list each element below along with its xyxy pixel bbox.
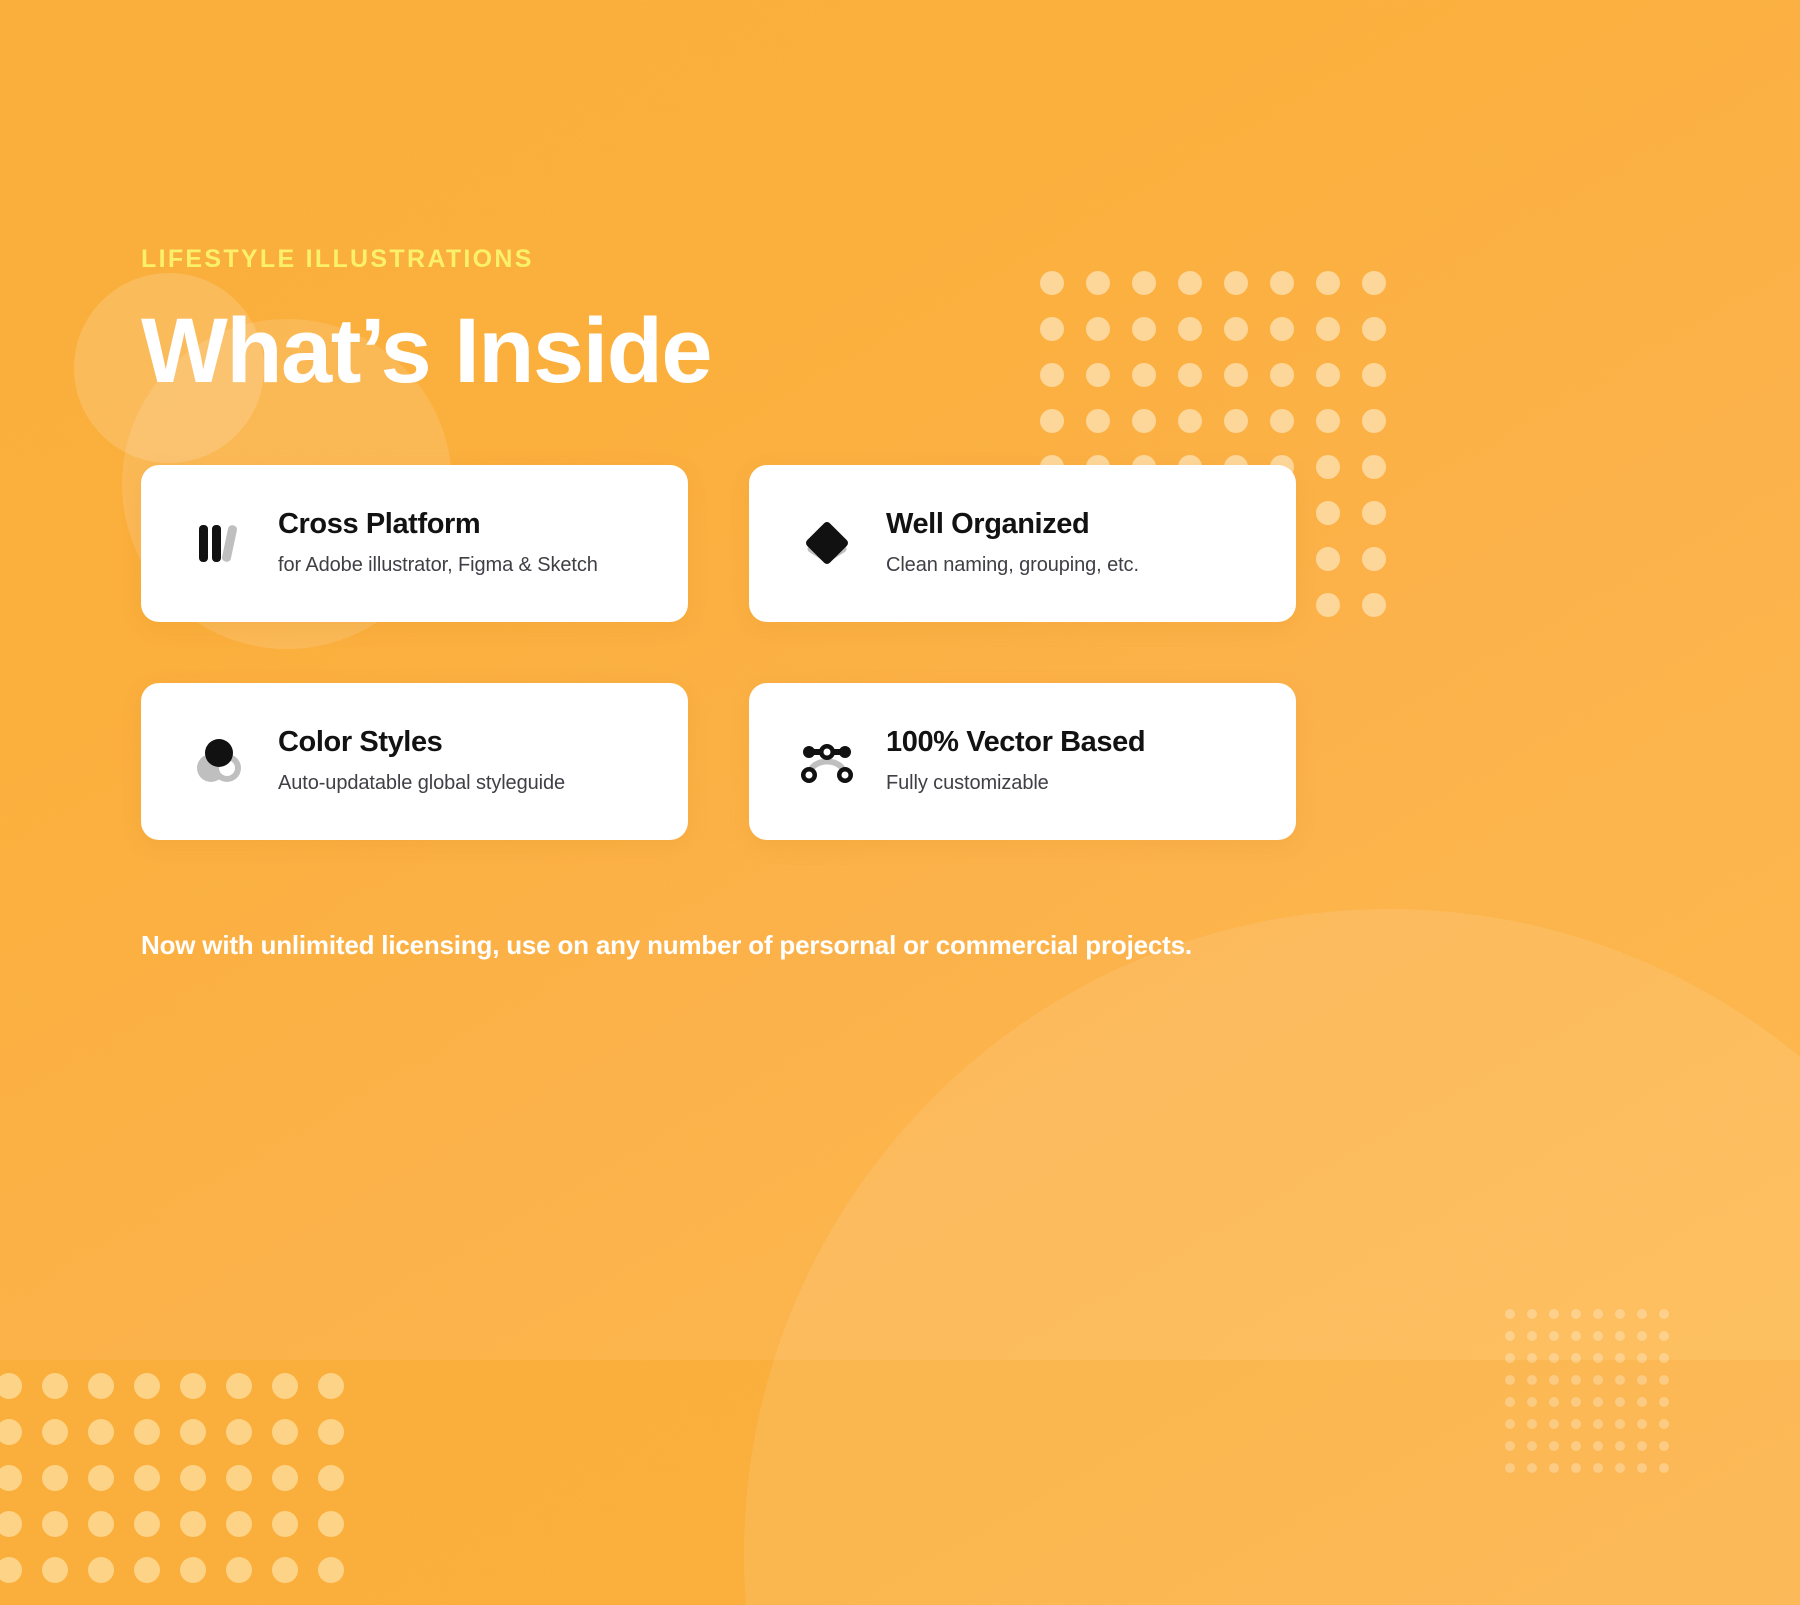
decorative-dot [226,1511,252,1537]
feature-card-vector-based[interactable]: 100% Vector Based Fully customizable [749,683,1296,840]
decorative-dot [1549,1375,1559,1385]
color-circles-icon [188,730,250,792]
decorative-dot [1593,1419,1603,1429]
decorative-dot [134,1419,160,1445]
decorative-dot [42,1419,68,1445]
decorative-dot [272,1419,298,1445]
decorative-dot [1549,1441,1559,1451]
decorative-dot [272,1557,298,1583]
decorative-dot [1593,1463,1603,1473]
decorative-dot [318,1419,344,1445]
decorative-dot [180,1419,206,1445]
decorative-dot [1571,1397,1581,1407]
decorative-dot [1549,1419,1559,1429]
decorative-dot [318,1373,344,1399]
decorative-dot [1593,1309,1603,1319]
decorative-dot [1593,1375,1603,1385]
decorative-dot [1593,1353,1603,1363]
licensing-tagline: Now with unlimited licensing, use on any… [141,930,1800,961]
decorative-dot [134,1511,160,1537]
feature-card-cross-platform[interactable]: Cross Platform for Adobe illustrator, Fi… [141,465,688,622]
decorative-dot [1615,1309,1625,1319]
decorative-dot [1505,1331,1515,1341]
feature-card-text: Cross Platform for Adobe illustrator, Fi… [278,509,598,577]
decorative-dot [1615,1353,1625,1363]
feature-card-color-styles[interactable]: Color Styles Auto-updatable global style… [141,683,688,840]
decorative-dot [272,1511,298,1537]
decorative-dot [1549,1353,1559,1363]
decorative-dot [134,1373,160,1399]
feature-card-title: Color Styles [278,727,565,759]
decorative-dot [42,1373,68,1399]
feature-card-subtitle: for Adobe illustrator, Figma & Sketch [278,553,598,577]
decorative-dot [1549,1397,1559,1407]
decorative-dot [1571,1309,1581,1319]
decorative-dot [1505,1419,1515,1429]
feature-card-text: Well Organized Clean naming, grouping, e… [886,509,1139,577]
decorative-dot [1637,1375,1647,1385]
decorative-dot [180,1557,206,1583]
decorative-dot [1637,1309,1647,1319]
decorative-dot [180,1465,206,1491]
feature-card-title: Cross Platform [278,509,598,541]
decorative-dot [1549,1463,1559,1473]
decorative-dot [1549,1309,1559,1319]
decorative-dot [1505,1375,1515,1385]
decorative-dot [226,1373,252,1399]
decorative-dot [1659,1441,1669,1451]
layers-diamond-icon [796,512,858,574]
decorative-dot [226,1419,252,1445]
decorative-dot [1505,1309,1515,1319]
decorative-dot [1615,1441,1625,1451]
decorative-dot [318,1511,344,1537]
decorative-dot [0,1511,22,1537]
decorative-dot [318,1557,344,1583]
decorative-dot [1615,1375,1625,1385]
decorative-dot [42,1465,68,1491]
decorative-dot [88,1465,114,1491]
decorative-dot [88,1511,114,1537]
decorative-dot [88,1373,114,1399]
decorative-dot [1571,1463,1581,1473]
decorative-dot [226,1557,252,1583]
decorative-dot [1615,1331,1625,1341]
eyebrow-label: LIFESTYLE ILLUSTRATIONS [141,245,1800,274]
decorative-dot [1615,1397,1625,1407]
decorative-dot [1659,1397,1669,1407]
vector-bezier-icon [796,730,858,792]
decorative-dot [1593,1331,1603,1341]
decorative-circle-bottom-right [744,909,1800,1605]
decorative-dot [1571,1441,1581,1451]
feature-card-text: Color Styles Auto-updatable global style… [278,727,565,795]
decorative-dot [1527,1375,1537,1385]
decorative-dot [1637,1441,1647,1451]
decorative-dot [0,1419,22,1445]
feature-card-title: 100% Vector Based [886,727,1145,759]
feature-card-grid: Cross Platform for Adobe illustrator, Fi… [141,465,1296,840]
feature-card-subtitle: Auto-updatable global styleguide [278,771,565,795]
decorative-dot [1527,1397,1537,1407]
decorative-dot [42,1511,68,1537]
decorative-dot [0,1373,22,1399]
page-title: What’s Inside [141,304,1800,400]
decorative-dot [1505,1463,1515,1473]
decorative-dot [1615,1463,1625,1473]
decorative-dot [318,1465,344,1491]
decorative-dot [1527,1463,1537,1473]
decorative-dot [1659,1331,1669,1341]
decorative-dot [1637,1463,1647,1473]
dot-grid-bottom-right [1505,1309,1681,1485]
decorative-dot [1549,1331,1559,1341]
decorative-dot [1659,1463,1669,1473]
books-stack-icon [188,512,250,574]
decorative-dot [1571,1353,1581,1363]
decorative-dot [88,1419,114,1445]
decorative-dot [1637,1397,1647,1407]
decorative-dot [1505,1441,1515,1451]
decorative-dot [1615,1419,1625,1429]
decorative-dot [1527,1353,1537,1363]
decorative-dot [180,1511,206,1537]
decorative-dot [1571,1375,1581,1385]
feature-card-well-organized[interactable]: Well Organized Clean naming, grouping, e… [749,465,1296,622]
decorative-dot [226,1465,252,1491]
decorative-dot [272,1373,298,1399]
decorative-dot [272,1465,298,1491]
decorative-dot [1637,1353,1647,1363]
decorative-dot [1505,1397,1515,1407]
feature-card-subtitle: Fully customizable [886,771,1145,795]
decorative-dot [0,1465,22,1491]
decorative-dot [42,1557,68,1583]
decorative-dot [1593,1397,1603,1407]
decorative-dot [1527,1331,1537,1341]
decorative-dot [180,1373,206,1399]
decorative-dot [1571,1419,1581,1429]
feature-card-subtitle: Clean naming, grouping, etc. [886,553,1139,577]
feature-card-title: Well Organized [886,509,1139,541]
decorative-dot [1659,1419,1669,1429]
decorative-dot [1637,1331,1647,1341]
decorative-dot [1571,1331,1581,1341]
decorative-dot [1505,1353,1515,1363]
decorative-dot [1527,1419,1537,1429]
decorative-dot [1659,1353,1669,1363]
feature-card-text: 100% Vector Based Fully customizable [886,727,1145,795]
decorative-dot [134,1465,160,1491]
dot-grid-bottom-left [0,1373,364,1603]
decorative-dot [1637,1419,1647,1429]
decorative-dot [1593,1441,1603,1451]
decorative-dot [1659,1309,1669,1319]
decorative-dot [134,1557,160,1583]
decorative-dot [1527,1441,1537,1451]
decorative-dot [1527,1309,1537,1319]
decorative-dot [0,1557,22,1583]
page-content: LIFESTYLE ILLUSTRATIONS What’s Inside Cr… [0,245,1800,961]
decorative-dot [88,1557,114,1583]
decorative-dot [1659,1375,1669,1385]
